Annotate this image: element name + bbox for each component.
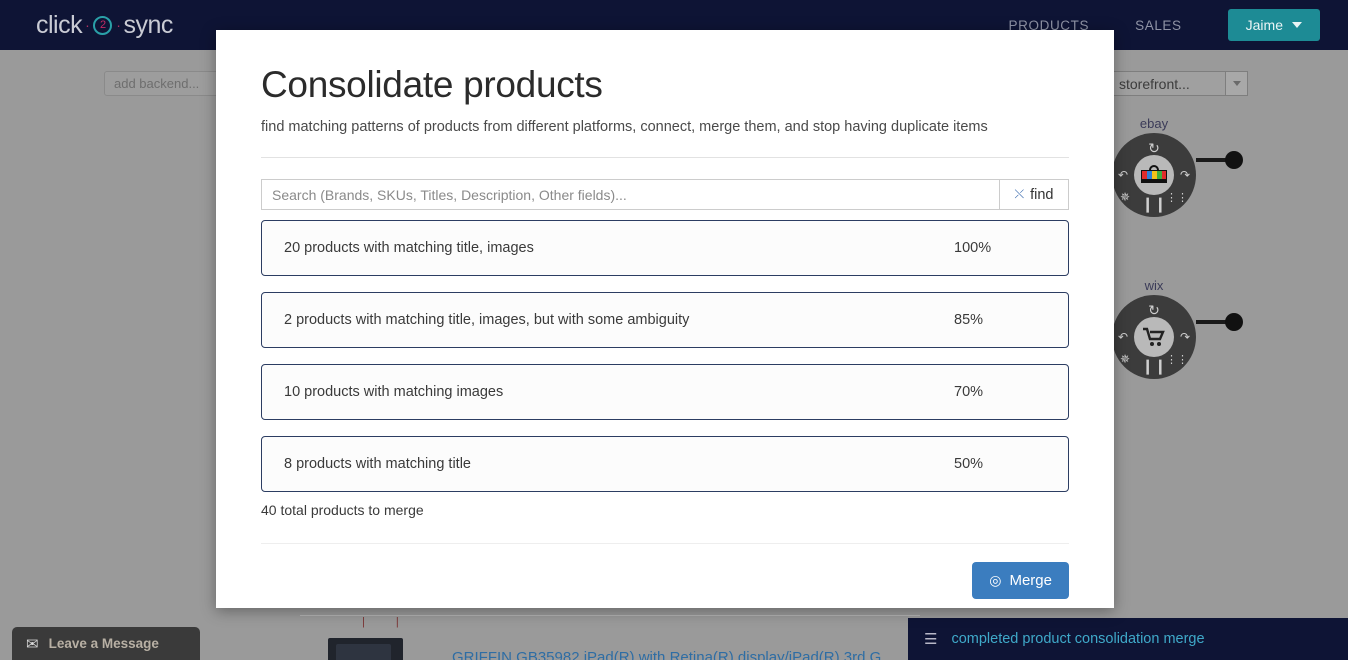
search-row: ⤬ find: [261, 179, 1069, 210]
shopping-bag-icon[interactable]: [1134, 155, 1174, 195]
arrow-right-icon[interactable]: ↷: [1180, 168, 1190, 182]
gear-icon[interactable]: ✵: [1120, 352, 1130, 366]
modal-footer: ◎ Merge: [261, 562, 1069, 599]
match-group-percent: 70%: [954, 384, 1046, 400]
product-thumbnail: [328, 638, 403, 660]
match-group-percent: 50%: [954, 456, 1046, 472]
platform-dial-wix[interactable]: wix ↻ ↶ ↷ ✵ ⋮⋮ ❙❙: [1112, 278, 1196, 379]
table-row[interactable]: 10 products with matching images 70%: [261, 364, 1069, 420]
shopping-bag-glyph: [1140, 164, 1168, 186]
envelope-icon: ✉: [26, 635, 39, 653]
add-backend-select[interactable]: add backend...: [104, 71, 221, 96]
app-logo[interactable]: click · 2 · sync: [36, 11, 173, 40]
nav-sales[interactable]: SALES: [1135, 18, 1182, 33]
dial-ring[interactable]: ↻ ↶ ↷ ✵ ⋮⋮ ❙❙: [1112, 133, 1196, 217]
server-list-icon: ☰: [924, 630, 937, 648]
logo-dot-right: ·: [116, 17, 120, 33]
logo-ring-text: 2: [100, 19, 106, 31]
leave-a-message-label: Leave a Message: [49, 636, 159, 651]
arrow-right-icon[interactable]: ↷: [1180, 330, 1190, 344]
gear-icon[interactable]: ✵: [1120, 190, 1130, 204]
status-toast[interactable]: ☰ completed product consolidation merge: [908, 618, 1348, 660]
logo-text-pre: click: [36, 11, 82, 40]
compress-arrows-icon: ⤬: [1015, 187, 1025, 202]
match-group-percent: 100%: [954, 240, 1046, 256]
merge-button-label: Merge: [1009, 572, 1052, 589]
grid-icon[interactable]: ⋮⋮: [1166, 191, 1188, 204]
divider: [261, 157, 1069, 158]
logo-dot-left: ·: [85, 17, 89, 33]
merge-button[interactable]: ◎ Merge: [972, 562, 1069, 599]
pause-icon[interactable]: ❙❙: [1141, 357, 1166, 375]
dial-connector: [1196, 320, 1226, 324]
match-group-label: 20 products with matching title, images: [284, 240, 954, 256]
leave-a-message-widget[interactable]: ✉ Leave a Message: [12, 627, 200, 660]
dial-ring[interactable]: ↻ ↶ ↷ ✵ ⋮⋮ ❙❙: [1112, 295, 1196, 379]
grid-icon[interactable]: ⋮⋮: [1166, 353, 1188, 366]
arrow-left-icon[interactable]: ↶: [1118, 330, 1128, 344]
table-row[interactable]: 2 products with matching title, images, …: [261, 292, 1069, 348]
background-product-row: | | GRIFFIN GB35982 iPad(R) with Retina(…: [300, 615, 920, 660]
total-products-label: 40 total products to merge: [261, 502, 1069, 518]
match-group-percent: 85%: [954, 312, 1046, 328]
user-menu-button[interactable]: Jaime: [1228, 9, 1320, 41]
dial-connector: [1196, 158, 1226, 162]
user-menu-label: Jaime: [1246, 17, 1283, 33]
shopping-cart-glyph: [1142, 326, 1166, 348]
logo-text-post: sync: [123, 11, 172, 40]
table-row[interactable]: 20 products with matching title, images …: [261, 220, 1069, 276]
chevron-down-icon: [1233, 81, 1241, 86]
target-icon: ◎: [989, 572, 1001, 589]
platform-dial-ebay[interactable]: ebay ↻ ↶ ↷ ✵ ⋮⋮ ❙❙: [1112, 116, 1196, 217]
platform-dial-label: ebay: [1112, 116, 1196, 131]
modal-subtitle: find matching patterns of products from …: [261, 119, 1069, 135]
table-row[interactable]: 8 products with matching title 50%: [261, 436, 1069, 492]
search-input[interactable]: [261, 179, 999, 210]
match-results-list: 20 products with matching title, images …: [261, 220, 1069, 492]
shopping-cart-icon[interactable]: [1134, 317, 1174, 357]
find-button[interactable]: ⤬ find: [999, 179, 1069, 210]
footer-divider: [261, 543, 1069, 544]
logo-ring-icon: 2: [93, 16, 112, 35]
storefront-select[interactable]: storefront...: [1110, 71, 1248, 96]
storefront-dropdown-button[interactable]: [1225, 72, 1247, 95]
status-toast-message: completed product consolidation merge: [951, 631, 1204, 647]
match-group-label: 10 products with matching images: [284, 384, 954, 400]
match-group-label: 2 products with matching title, images, …: [284, 312, 954, 328]
consolidate-products-modal: Consolidate products find matching patte…: [216, 30, 1114, 608]
decorative-ticks: | |: [362, 616, 413, 628]
platform-dial-label: wix: [1112, 278, 1196, 293]
product-title-link[interactable]: GRIFFIN GB35982 iPad(R) with Retina(R) d…: [452, 649, 881, 660]
arrow-left-icon[interactable]: ↶: [1118, 168, 1128, 182]
pause-icon[interactable]: ❙❙: [1141, 195, 1166, 213]
match-group-label: 8 products with matching title: [284, 456, 954, 472]
chevron-down-icon: [1292, 22, 1302, 28]
storefront-select-label: storefront...: [1111, 76, 1225, 92]
page-title: Consolidate products: [261, 64, 1069, 106]
find-button-label: find: [1030, 187, 1053, 203]
